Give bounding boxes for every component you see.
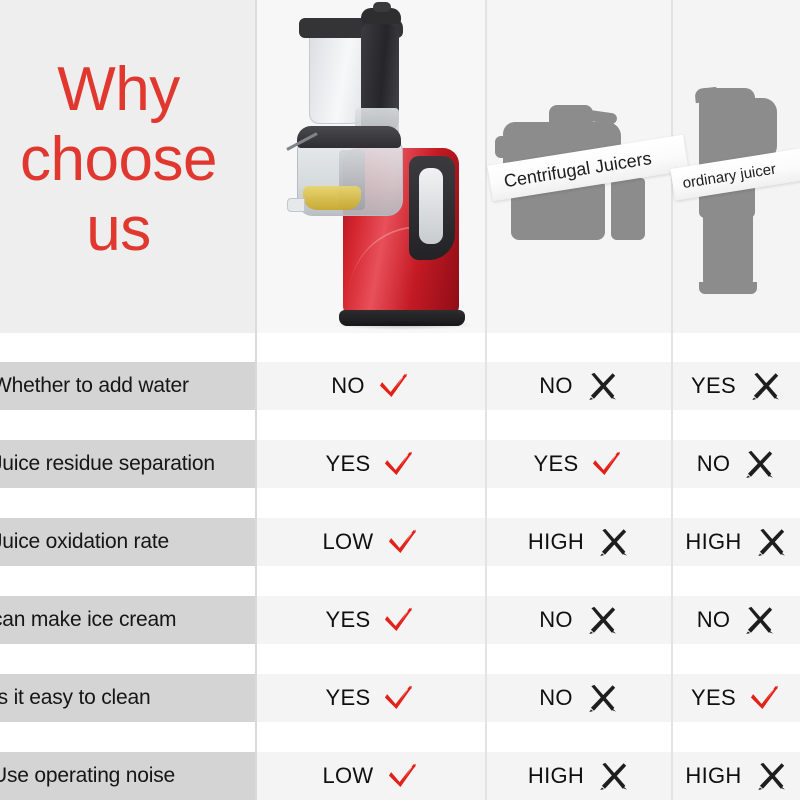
cell-value: YES — [691, 373, 736, 399]
cell-value: LOW — [322, 529, 373, 555]
title-panel: Why choose us — [0, 0, 257, 333]
row-label-cell: can make ice cream — [0, 596, 255, 644]
cell-value: NO — [697, 451, 731, 477]
table-cell: NO — [487, 596, 671, 644]
table-cell: YES — [673, 674, 800, 722]
cross-icon — [742, 447, 776, 481]
check-icon — [377, 369, 411, 403]
cross-icon — [585, 681, 619, 715]
cross-icon — [754, 525, 788, 559]
red-slow-juicer-photo — [257, 0, 487, 333]
row-label-cell: Juice oxidation rate — [0, 518, 255, 566]
table-cell: YES — [673, 362, 800, 410]
cross-icon — [748, 369, 782, 403]
title-line-3: us — [0, 195, 251, 265]
row-label-text: Use operating noise — [0, 764, 175, 788]
table-row: Juice residue separationYESYESNO — [0, 440, 800, 488]
table-cell: YES — [487, 440, 671, 488]
table-cell: NO — [487, 362, 671, 410]
cell-value: HIGH — [528, 529, 584, 555]
cell-value: YES — [534, 451, 579, 477]
row-label-cell: Use operating noise — [0, 752, 255, 800]
table-row: Whether to add waterNONOYES — [0, 362, 800, 410]
table-cell: NO — [673, 440, 800, 488]
table-row: Use operating noiseLOWHIGHHIGH — [0, 752, 800, 800]
row-label-text: Juice residue separation — [0, 452, 215, 476]
cross-icon — [754, 759, 788, 793]
cross-icon — [585, 369, 619, 403]
cross-icon — [596, 525, 630, 559]
table-cell: LOW — [257, 752, 485, 800]
table-cell: LOW — [257, 518, 485, 566]
check-icon — [590, 447, 624, 481]
cell-value: YES — [691, 685, 736, 711]
row-label-text: Whether to add water — [0, 374, 189, 398]
table-row: can make ice creamYESNONO — [0, 596, 800, 644]
cross-icon — [742, 603, 776, 637]
cell-value: NO — [539, 607, 573, 633]
cell-value: NO — [331, 373, 365, 399]
comparison-table: Whether to add waterNONOYESJuice residue… — [0, 333, 800, 800]
check-icon — [382, 603, 416, 637]
check-icon — [748, 681, 782, 715]
cell-value: HIGH — [685, 763, 741, 789]
check-icon — [382, 681, 416, 715]
cell-value: HIGH — [528, 763, 584, 789]
check-icon — [386, 525, 420, 559]
cross-icon — [585, 603, 619, 637]
row-label-text: Is it easy to clean — [0, 686, 150, 710]
cell-value: LOW — [322, 763, 373, 789]
title-line-1: Why — [0, 55, 251, 125]
table-cell: HIGH — [487, 518, 671, 566]
table-cell: YES — [257, 674, 485, 722]
table-cell: HIGH — [673, 752, 800, 800]
row-label-cell: Whether to add water — [0, 362, 255, 410]
header-band: Why choose us — [0, 0, 800, 333]
table-row: Is it easy to cleanYESNOYES — [0, 674, 800, 722]
table-cell: YES — [257, 596, 485, 644]
cross-icon — [596, 759, 630, 793]
table-row: Juice oxidation rateLOWHIGHHIGH — [0, 518, 800, 566]
cell-value: YES — [326, 451, 371, 477]
cell-value: NO — [539, 685, 573, 711]
check-icon — [382, 447, 416, 481]
cell-value: YES — [326, 685, 371, 711]
row-label-cell: Juice residue separation — [0, 440, 255, 488]
row-label-cell: Is it easy to clean — [0, 674, 255, 722]
cell-value: HIGH — [685, 529, 741, 555]
title-line-2: choose — [0, 125, 251, 195]
cell-value: YES — [326, 607, 371, 633]
row-label-text: can make ice cream — [0, 608, 176, 632]
check-icon — [386, 759, 420, 793]
table-cell: NO — [257, 362, 485, 410]
comparison-infographic: Why choose us — [0, 0, 800, 800]
cell-value: NO — [697, 607, 731, 633]
row-label-text: Juice oxidation rate — [0, 530, 169, 554]
table-cell: NO — [487, 674, 671, 722]
table-cell: HIGH — [673, 518, 800, 566]
table-cell: HIGH — [487, 752, 671, 800]
cell-value: NO — [539, 373, 573, 399]
table-cell: NO — [673, 596, 800, 644]
page-title: Why choose us — [0, 55, 251, 265]
table-cell: YES — [257, 440, 485, 488]
